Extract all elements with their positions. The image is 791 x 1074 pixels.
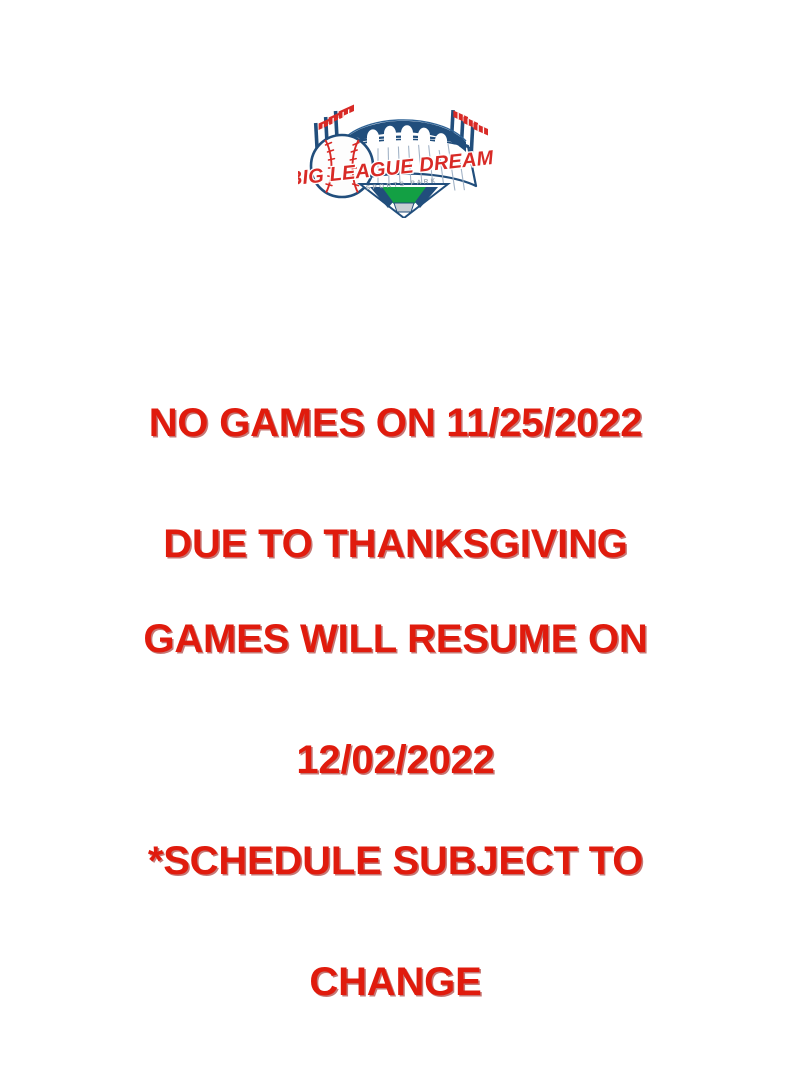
flag-icon [473, 123, 488, 136]
notice-line-disclaimer-1: *SCHEDULE SUBJECT TO [0, 831, 791, 892]
notice-line-no-games-date: NO GAMES ON 11/25/2022 [0, 393, 791, 454]
notice-line-disclaimer-2: CHANGE [0, 952, 791, 1013]
notice-line-resume: GAMES WILL RESUME ON [0, 609, 791, 670]
announcement-flyer: BIG LEAGUE DREAMS SPORTS PARK NO GAMES O… [0, 0, 791, 1024]
flag-icon [338, 105, 353, 119]
notice-block-disclaimer: *SCHEDULE SUBJECT TO CHANGE [0, 770, 791, 1074]
big-league-dreams-logo: BIG LEAGUE DREAMS SPORTS PARK [298, 90, 494, 218]
